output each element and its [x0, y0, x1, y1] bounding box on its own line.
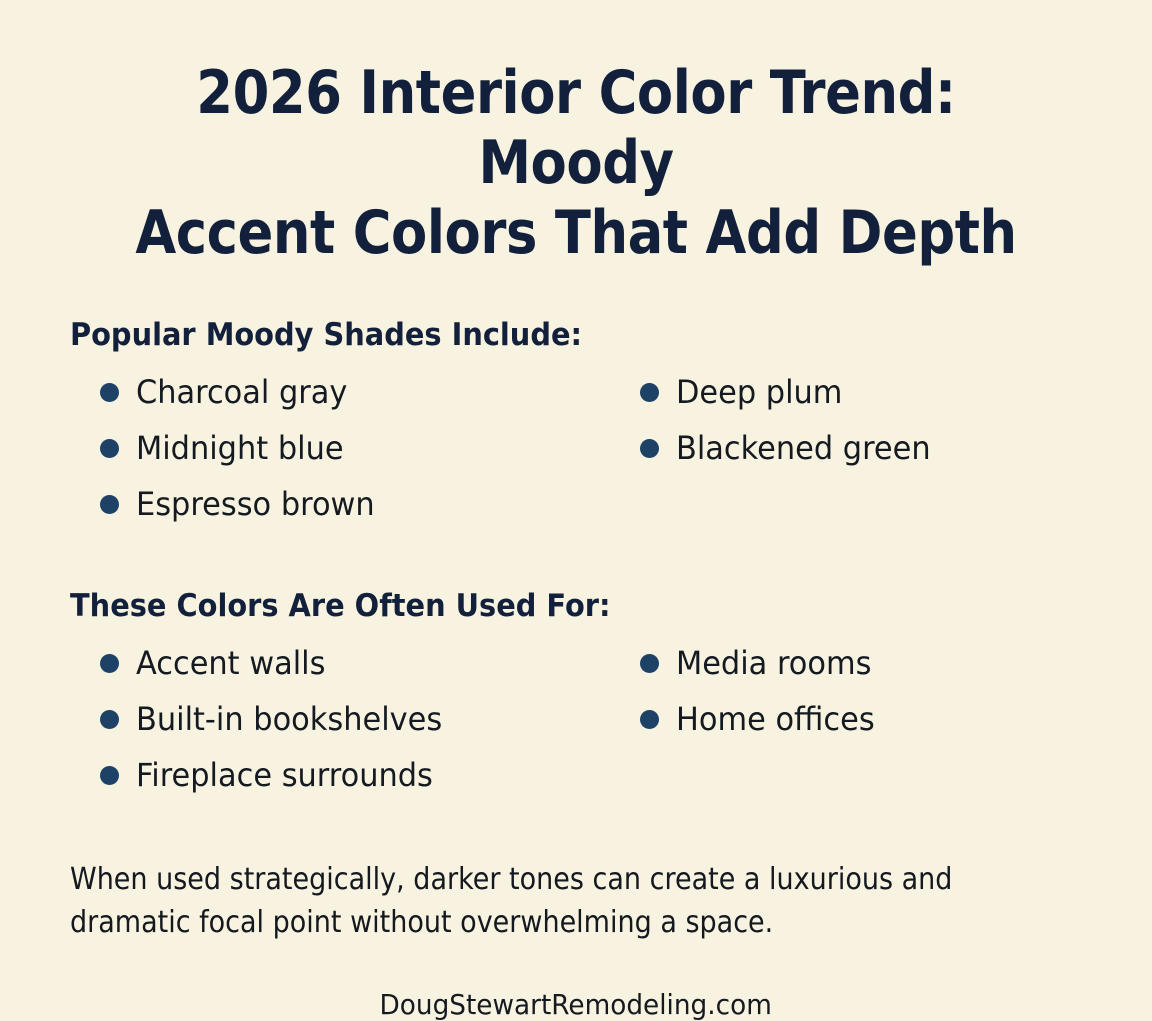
list-item-label: Blackened green: [676, 420, 931, 476]
list-item: Midnight blue: [100, 420, 640, 476]
list-item: Blackened green: [640, 420, 1082, 476]
list-item: Home offices: [640, 691, 1082, 747]
list-item: Deep plum: [640, 364, 1082, 420]
section-heading-shades: Popular Moody Shades Include:: [70, 317, 1011, 354]
bullet-dot-icon: [100, 710, 119, 729]
list-item: Accent walls: [100, 635, 640, 691]
list-item-label: Accent walls: [136, 635, 325, 691]
list-item: Espresso brown: [100, 476, 640, 532]
section-heading-uses: These Colors Are Often Used For:: [70, 588, 1011, 625]
section-popular-moody-shades: Popular Moody Shades Include: Charcoal g…: [0, 317, 1152, 532]
list-item: Built-in bookshelves: [100, 691, 640, 747]
page-title: 2026 Interior Color Trend: Moody Accent …: [131, 58, 1022, 269]
list-item-label: Fireplace surrounds: [136, 747, 433, 803]
bullet-dot-icon: [100, 766, 119, 785]
list-item-placeholder: [640, 476, 1082, 532]
bullet-dot-icon: [640, 654, 659, 673]
bullet-grid-uses: Accent walls Media rooms Built-in booksh…: [70, 635, 1082, 803]
website-url: DougStewartRemodeling.com: [380, 988, 772, 1021]
bullet-dot-icon: [100, 654, 119, 673]
footer: DougStewartRemodeling.com: [0, 988, 1152, 1021]
bullet-dot-icon: [640, 383, 659, 402]
list-item-label: Midnight blue: [136, 420, 344, 476]
section-often-used-for: These Colors Are Often Used For: Accent …: [0, 588, 1152, 803]
list-item-label: Charcoal gray: [136, 364, 347, 420]
title-block: 2026 Interior Color Trend: Moody Accent …: [0, 0, 1152, 269]
closing-paragraph: When used strategically, darker tones ca…: [70, 859, 981, 944]
bullet-grid-shades: Charcoal gray Deep plum Midnight blue Bl…: [70, 364, 1082, 532]
list-item: Media rooms: [640, 635, 1082, 691]
bullet-dot-icon: [100, 383, 119, 402]
list-item: Fireplace surrounds: [100, 747, 640, 803]
infographic-card: 2026 Interior Color Trend: Moody Accent …: [0, 0, 1152, 928]
list-item-label: Deep plum: [676, 364, 842, 420]
list-item-placeholder: [640, 747, 1082, 803]
list-item: Charcoal gray: [100, 364, 640, 420]
bullet-dot-icon: [640, 439, 659, 458]
bullet-dot-icon: [640, 710, 659, 729]
list-item-label: Media rooms: [676, 635, 871, 691]
list-item-label: Built-in bookshelves: [136, 691, 442, 747]
bullet-dot-icon: [100, 495, 119, 514]
list-item-label: Home offices: [676, 691, 875, 747]
list-item-label: Espresso brown: [136, 476, 375, 532]
bullet-dot-icon: [100, 439, 119, 458]
